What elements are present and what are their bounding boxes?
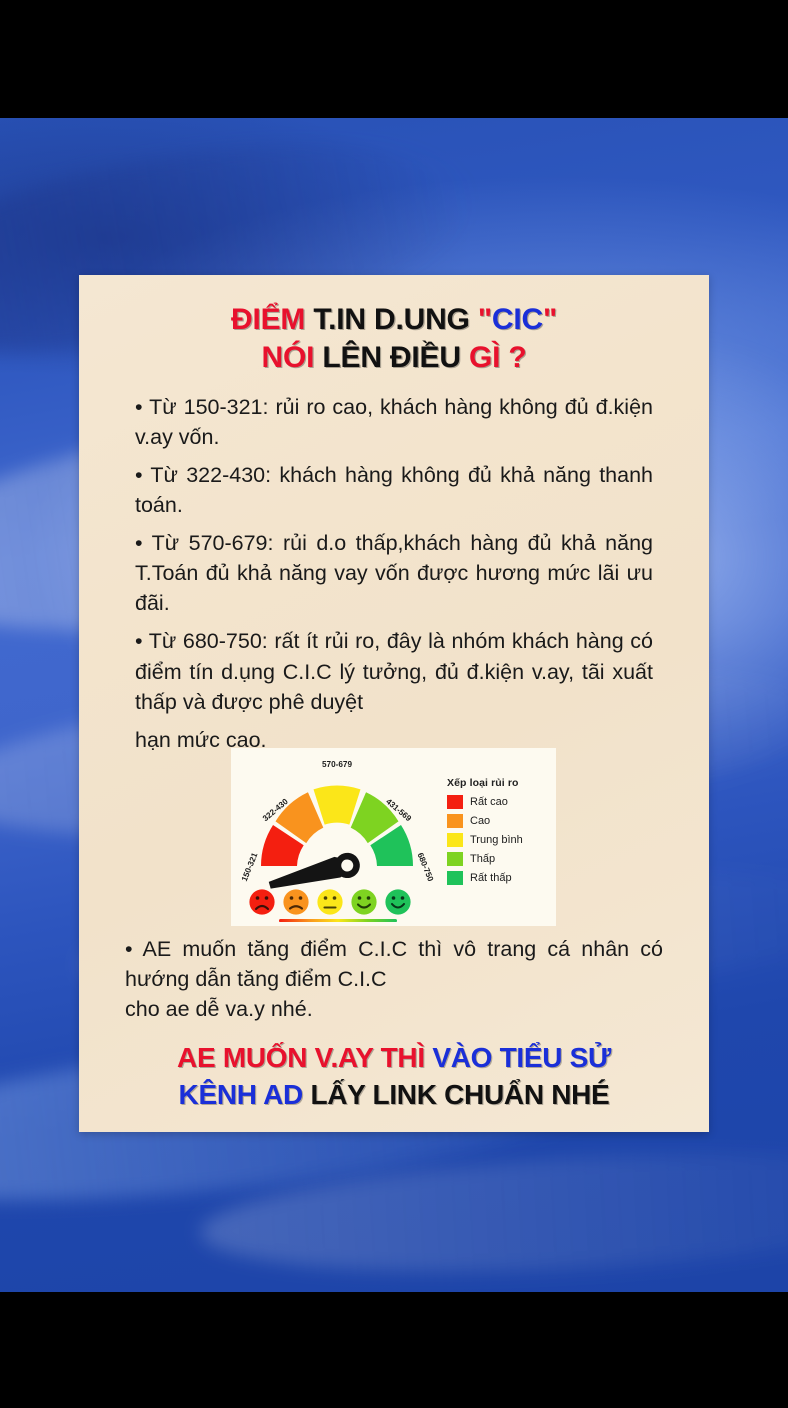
gauge-svg: 150-321 322-430 570-679 431-569 680-750 xyxy=(231,750,443,922)
text-run: GÌ ? xyxy=(469,341,527,374)
legend-label: Thấp xyxy=(470,853,495,865)
text-run: VÀO TIỂU SỬ xyxy=(432,1042,611,1073)
text-run: " xyxy=(478,303,492,336)
mood-face-very-sad xyxy=(249,889,274,914)
text-run: " xyxy=(543,303,557,336)
mood-face-neutral xyxy=(317,889,342,914)
text-run: KÊNH AD xyxy=(179,1079,311,1110)
legend-item: Rất thấp xyxy=(447,871,523,885)
text-run: T.IN D.UNG xyxy=(313,303,477,336)
text-run: LÊN ĐIỀU xyxy=(322,341,469,374)
text-run: AE MUỐN V.AY THÌ xyxy=(177,1042,432,1073)
legend-item: Rất cao xyxy=(447,795,523,809)
cta-line-1: AE MUỐN V.AY THÌ VÀO TIỂU SỬ xyxy=(79,1039,709,1076)
gauge-label-2: 570-679 xyxy=(322,760,352,769)
wave-highlight xyxy=(198,1138,788,1288)
gauge-scale-bar xyxy=(279,919,397,922)
call-to-action: AE MUỐN V.AY THÌ VÀO TIỂU SỬ KÊNH AD LẤY… xyxy=(79,1039,709,1113)
text-run: NÓI xyxy=(262,341,323,374)
title-line-2: NÓI LÊN ĐIỀU GÌ ? xyxy=(89,339,699,377)
legend-item: Cao xyxy=(447,814,523,828)
list-item: • Từ 150-321: rủi ro cao, khách hàng khô… xyxy=(135,392,653,452)
legend-label: Rất thấp xyxy=(470,872,512,884)
text-run: LẤY LINK CHUẨN NHÉ xyxy=(310,1079,609,1110)
chart-legend: Xếp loại rủi ro Rất cao Cao Trung bình T… xyxy=(443,777,523,898)
note-line: cho ae dễ va.y nhé. xyxy=(125,994,663,1024)
list-item: • Từ 680-750: rất ít rủi ro, đây là nhóm… xyxy=(135,626,653,716)
note-block: • AE muốn tăng điểm C.I.C thì vô trang c… xyxy=(79,934,709,1024)
bullet-list: • Từ 150-321: rủi ro cao, khách hàng khô… xyxy=(135,392,653,755)
page-title: ĐIỂM T.IN D.UNG "CIC" NÓI LÊN ĐIỀU GÌ ? xyxy=(89,275,699,378)
legend-label: Trung bình xyxy=(470,834,523,846)
legend-swatch xyxy=(447,795,463,809)
legend-swatch xyxy=(447,871,463,885)
title-line-1: ĐIỂM T.IN D.UNG "CIC" xyxy=(89,301,699,339)
mood-face-sad xyxy=(283,889,308,914)
gauge-label-0: 150-321 xyxy=(240,851,260,883)
mood-face-very-happy xyxy=(385,889,410,914)
legend-item: Thấp xyxy=(447,852,523,866)
text-run: CIC xyxy=(492,303,543,336)
letterbox-bar-top xyxy=(0,0,788,118)
legend-swatch xyxy=(447,852,463,866)
mood-face-happy xyxy=(351,889,376,914)
gauge-label-4: 680-750 xyxy=(416,851,436,883)
text-run: ĐIỂM xyxy=(231,303,313,336)
legend-swatch xyxy=(447,814,463,828)
risk-gauge-chart: 150-321 322-430 570-679 431-569 680-750 xyxy=(231,748,556,926)
legend-item: Trung bình xyxy=(447,833,523,847)
letterbox-bar-bottom xyxy=(0,1292,788,1408)
legend-label: Cao xyxy=(470,815,490,827)
gauge-dial: 150-321 322-430 570-679 431-569 680-750 xyxy=(231,748,443,926)
cta-line-2: KÊNH AD LẤY LINK CHUẨN NHÉ xyxy=(79,1076,709,1113)
list-item: • Từ 570-679: rủi d.o thấp,khách hàng đủ… xyxy=(135,528,653,618)
note-line: • AE muốn tăng điểm C.I.C thì vô trang c… xyxy=(125,934,663,994)
list-item: • Từ 322-430: khách hàng không đủ khả nă… xyxy=(135,460,653,520)
legend-label: Rất cao xyxy=(470,796,508,808)
gauge-segment-2 xyxy=(314,786,361,825)
poster-panel: ĐIỂM T.IN D.UNG "CIC" NÓI LÊN ĐIỀU GÌ ? … xyxy=(79,275,709,1132)
legend-title: Xếp loại rủi ro xyxy=(447,777,523,789)
mood-face-row xyxy=(249,889,410,914)
video-frame: ĐIỂM T.IN D.UNG "CIC" NÓI LÊN ĐIỀU GÌ ? … xyxy=(0,0,788,1408)
legend-swatch xyxy=(447,833,463,847)
